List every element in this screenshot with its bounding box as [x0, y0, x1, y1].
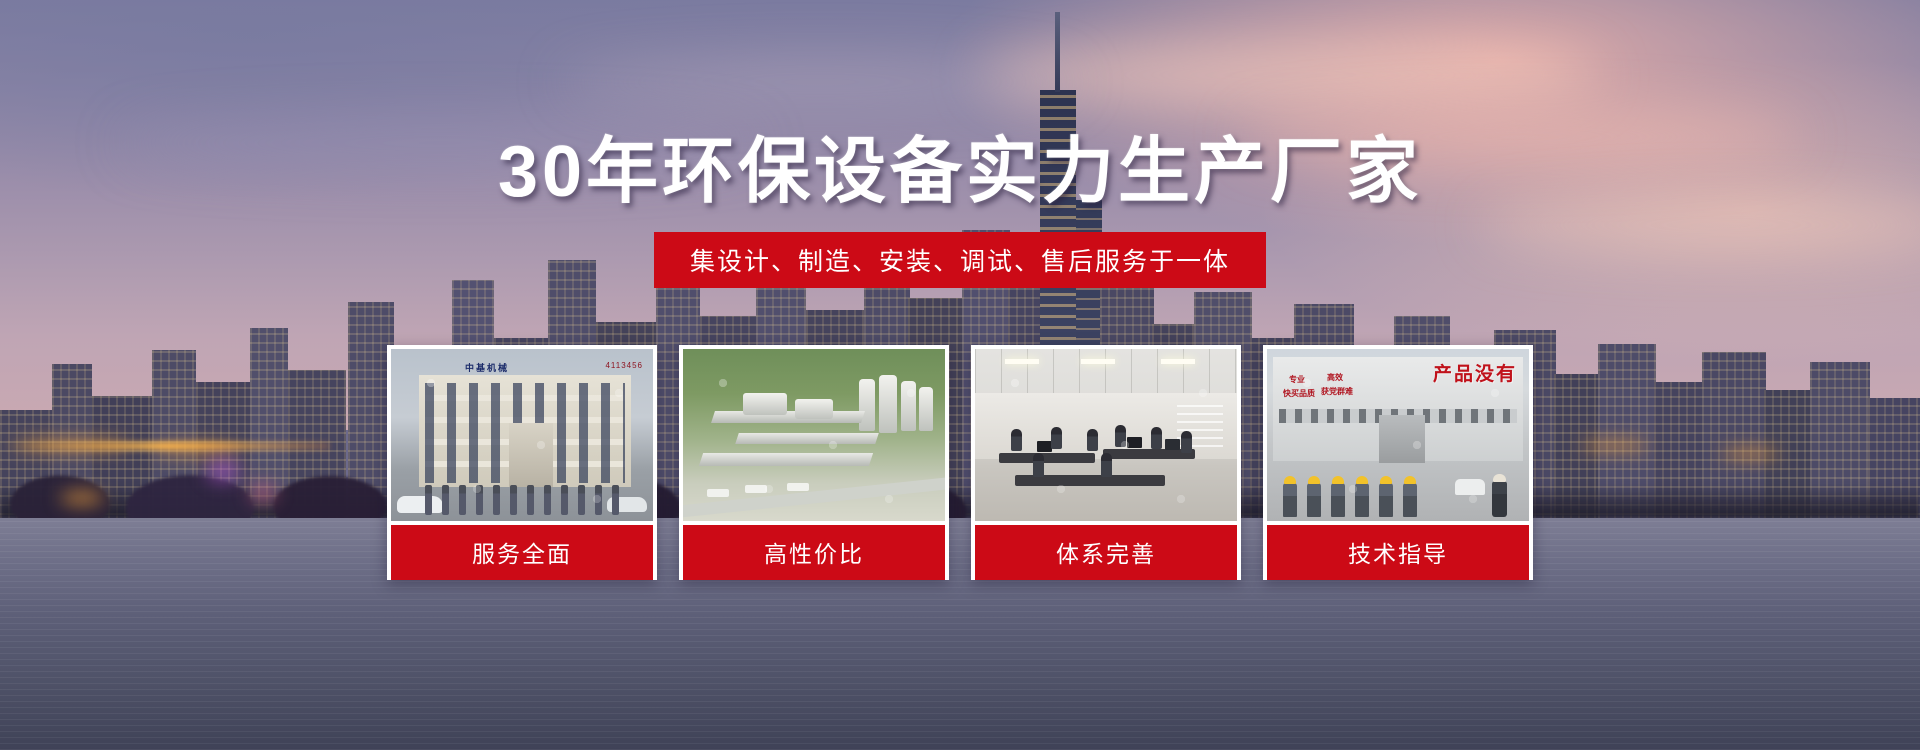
conveyor: [735, 433, 879, 444]
truck: [707, 489, 729, 497]
card-caption: 技术指导: [1267, 525, 1529, 580]
card-photo-factory-workshop: 产品没有 专业 快买品质 高效 获党群难: [1267, 349, 1529, 521]
building-phone-text: 4113456: [605, 361, 643, 370]
plant-structure: [795, 399, 833, 419]
person: [1151, 427, 1162, 449]
building-sign-text: 中基机械: [465, 361, 509, 374]
feature-card-list: 中基机械 4113456 服务全面: [0, 345, 1920, 580]
feature-card[interactable]: 高性价比: [679, 345, 949, 580]
card-photo-office-interior: [975, 349, 1237, 521]
worker: [1331, 483, 1345, 517]
worker: [1355, 483, 1369, 517]
site-road: [683, 476, 945, 518]
staff-row: [425, 479, 625, 515]
person: [1181, 431, 1192, 453]
factory-slogan-large: 产品没有: [1433, 359, 1517, 386]
truck: [745, 485, 767, 493]
conveyor: [699, 453, 873, 466]
worker: [1307, 483, 1321, 517]
ceiling: [975, 349, 1237, 393]
factory-slogan-small: 快买品质: [1283, 389, 1315, 399]
parked-van: [1455, 479, 1485, 495]
monitor: [1165, 439, 1180, 450]
feature-card[interactable]: 中基机械 4113456 服务全面: [387, 345, 657, 580]
building-entrance: [509, 423, 553, 487]
feature-card[interactable]: 体系完善: [971, 345, 1241, 580]
feature-card[interactable]: 产品没有 专业 快买品质 高效 获党群难 技术指导: [1263, 345, 1533, 580]
person: [1011, 429, 1022, 451]
monitor: [1037, 441, 1052, 452]
person: [1033, 453, 1044, 477]
subtitle-badge: 集设计、制造、安装、调试、售后服务于一体: [654, 232, 1266, 288]
person: [1051, 427, 1062, 449]
factory-door: [1379, 415, 1425, 463]
card-caption: 服务全面: [391, 525, 653, 580]
person: [1115, 425, 1126, 447]
card-caption: 高性价比: [683, 525, 945, 580]
ceiling-lamp: [1005, 359, 1039, 364]
subtitle-container: 集设计、制造、安装、调试、售后服务于一体: [0, 232, 1920, 288]
silo: [919, 387, 933, 431]
factory-slogan-small: 高效: [1327, 373, 1343, 383]
silo: [901, 381, 916, 431]
desk: [999, 453, 1095, 463]
ceiling-lamp: [1161, 359, 1195, 364]
page-title: 30年环保设备实力生产厂家: [0, 112, 1920, 217]
tower-spire: [1055, 12, 1060, 92]
worker: [1403, 483, 1417, 517]
worker: [1283, 483, 1297, 517]
card-caption: 体系完善: [975, 525, 1237, 580]
person: [1087, 429, 1098, 451]
card-photo-aerial-plant: [683, 349, 945, 521]
person: [1101, 453, 1112, 477]
ceiling-lamp: [1081, 359, 1115, 364]
truck: [787, 483, 809, 491]
supervisor: [1492, 481, 1507, 517]
factory-slogan-small: 专业: [1289, 375, 1305, 385]
hero-banner: 30年环保设备实力生产厂家 集设计、制造、安装、调试、售后服务于一体 中基机械 …: [0, 0, 1920, 750]
silo: [879, 375, 897, 433]
silo: [859, 379, 875, 431]
card-photo-office-building: 中基机械 4113456: [391, 349, 653, 521]
monitor: [1127, 437, 1142, 448]
factory-slogan-small: 获党群难: [1321, 387, 1353, 397]
plant-structure: [743, 393, 787, 415]
conveyor: [711, 411, 865, 423]
worker: [1379, 483, 1393, 517]
